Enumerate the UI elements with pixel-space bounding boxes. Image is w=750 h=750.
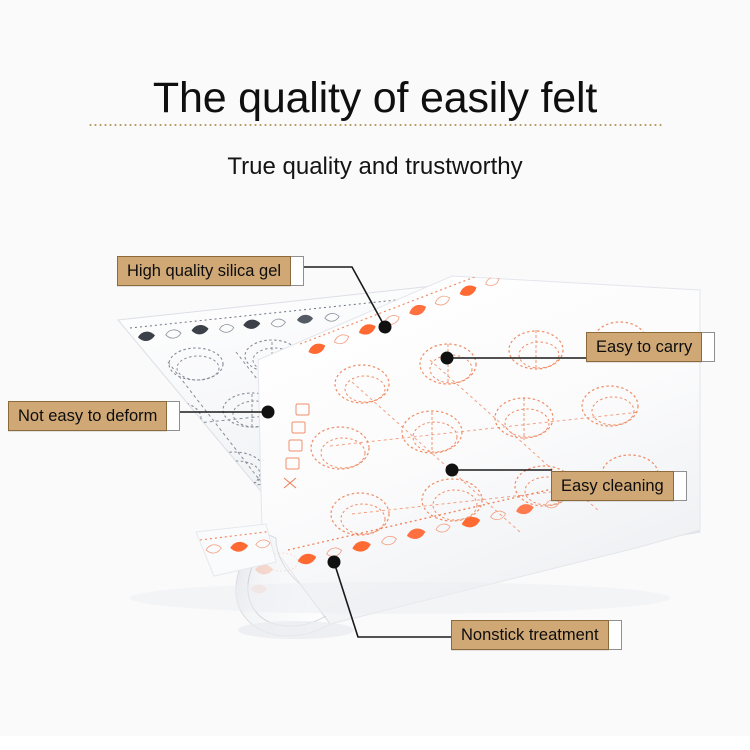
product-marketing-banner: The quality of easily felt True quality … [0, 0, 750, 750]
callout-tab [702, 332, 715, 362]
callout-leader-lines [0, 0, 750, 750]
callout-tab [674, 471, 687, 501]
callout-easy-cleaning[interactable]: Easy cleaning [551, 471, 687, 501]
leader-dot-easy-to-carry [441, 352, 454, 365]
leader-dot-high-quality-silica-gel [379, 321, 392, 334]
callout-tab [167, 401, 180, 431]
callout-tab [291, 256, 304, 286]
leader-dot-easy-cleaning [446, 464, 459, 477]
callout-plate: Not easy to deform [8, 401, 167, 431]
callout-plate: Easy to carry [586, 332, 702, 362]
callout-label: Nonstick treatment [461, 626, 599, 645]
callout-label: High quality silica gel [127, 262, 281, 281]
callout-plate: Easy cleaning [551, 471, 674, 501]
bottom-white-strip [0, 736, 750, 750]
callout-tab [609, 620, 622, 650]
callout-easy-to-carry[interactable]: Easy to carry [586, 332, 715, 362]
callout-label: Easy cleaning [561, 477, 664, 496]
callout-plate: High quality silica gel [117, 256, 291, 286]
callout-nonstick-treatment[interactable]: Nonstick treatment [451, 620, 622, 650]
callout-label: Easy to carry [596, 338, 692, 357]
callout-high-quality-silica-gel[interactable]: High quality silica gel [117, 256, 304, 286]
leader-dot-nonstick-treatment [328, 556, 341, 569]
leader-dot-not-easy-to-deform [262, 406, 275, 419]
callout-label: Not easy to deform [18, 407, 157, 426]
callout-not-easy-to-deform[interactable]: Not easy to deform [8, 401, 180, 431]
leader-nonstick-treatment [334, 562, 452, 637]
callout-plate: Nonstick treatment [451, 620, 609, 650]
